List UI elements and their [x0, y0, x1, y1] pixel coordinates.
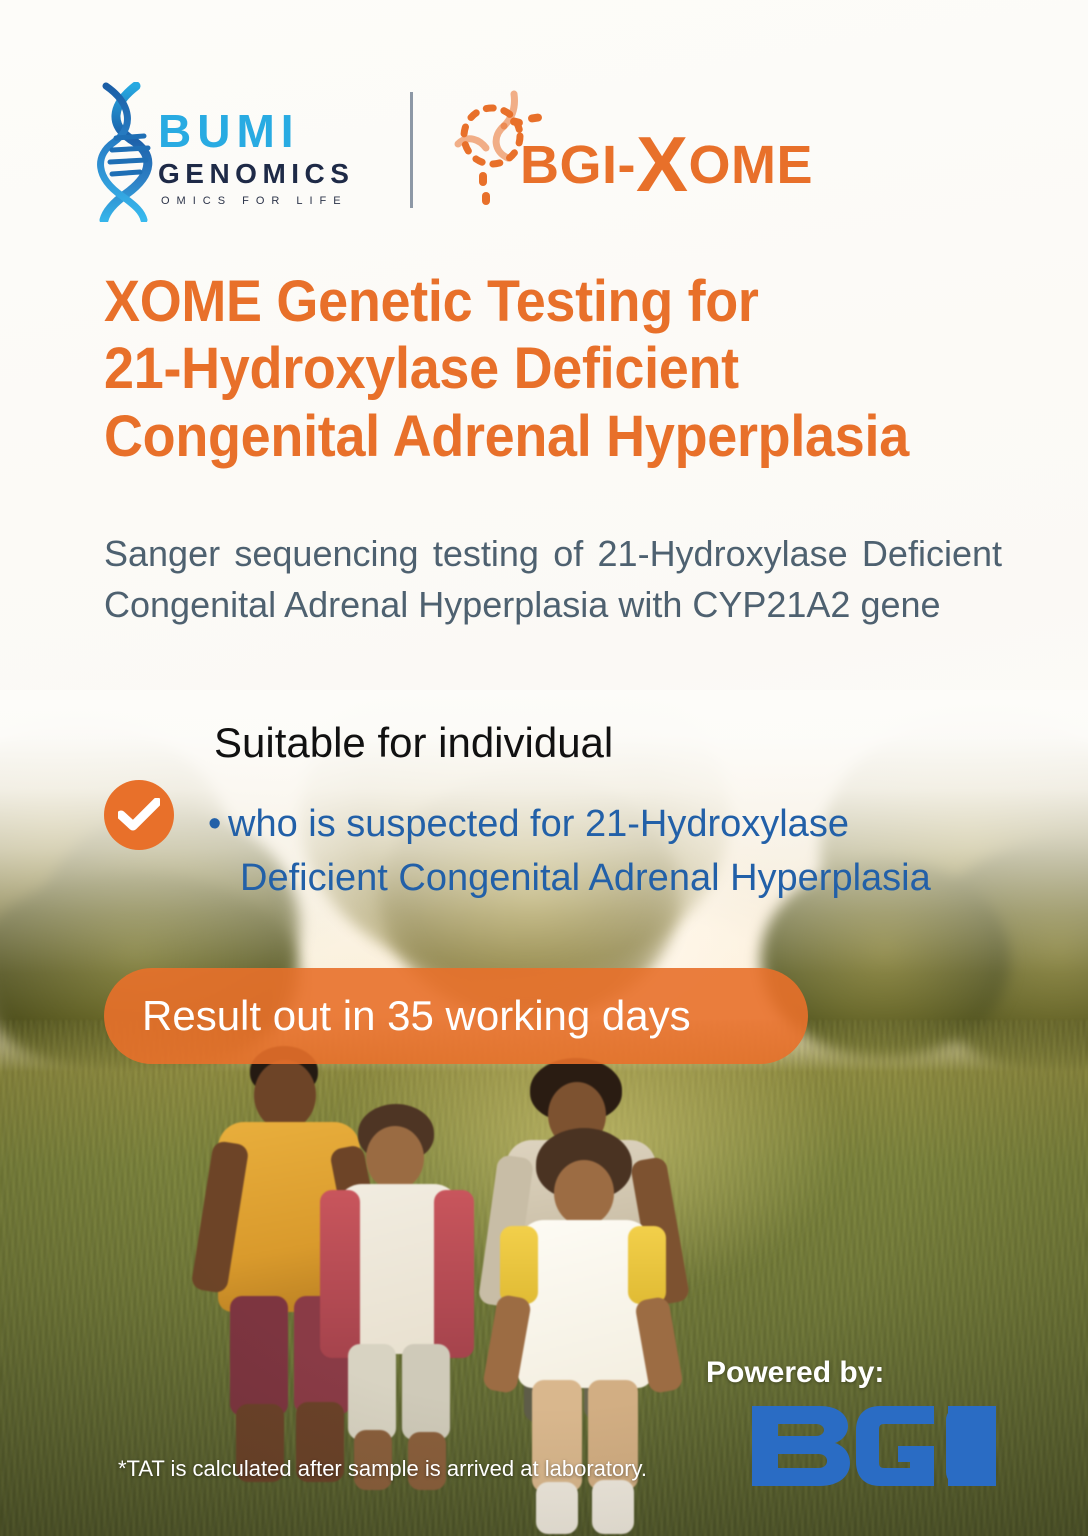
- page-title: XOME Genetic Testing for 21-Hydroxylase …: [104, 268, 1064, 470]
- bgi-xome-logo: BGI-XOME: [452, 88, 752, 218]
- bgi-logo: [748, 1398, 1000, 1492]
- bumi-tagline-text: OMICS FOR LIFE: [161, 196, 398, 207]
- person-boy: [318, 1104, 488, 1504]
- headline-line-2: 21-Hydroxylase Deficient: [104, 335, 997, 402]
- logo-divider: [410, 92, 413, 208]
- subtitle-text: Sanger sequencing testing of 21-Hydroxyl…: [104, 533, 1002, 625]
- bgi-xome-wordmark: BGI-XOME: [520, 138, 813, 192]
- dna-helix-icon: [92, 82, 166, 222]
- headline-line-1: XOME Genetic Testing for: [104, 268, 997, 335]
- check-circle-icon: [104, 780, 174, 850]
- powered-by-label: Powered by:: [706, 1358, 884, 1388]
- bgi-xome-x-letter: X: [636, 120, 689, 208]
- footnote-text: *TAT is calculated after sample is arriv…: [118, 1458, 647, 1480]
- poster-root: BUMI GENOMICS OMICS FOR LIFE: [0, 0, 1088, 1536]
- suitable-heading: Suitable for individual: [214, 720, 613, 766]
- bullet-line-1: who is suspected for 21-Hydroxylase: [228, 803, 849, 845]
- headline-line-3: Congenital Adrenal Hyperplasia: [104, 403, 997, 470]
- bumi-genomics-logo: BUMI GENOMICS OMICS FOR LIFE: [92, 80, 392, 220]
- header: BUMI GENOMICS OMICS FOR LIFE: [0, 0, 1088, 240]
- suitable-bullet-list: •who is suspected for 21-Hydroxylase Def…: [208, 798, 1088, 906]
- bumi-wordmark: BUMI GENOMICS OMICS FOR LIFE: [158, 108, 398, 207]
- bumi-subbrand-text: GENOMICS: [158, 160, 398, 188]
- bgi-xome-prefix: BGI-: [520, 135, 636, 195]
- bullet-line-2: Deficient Congenital Adrenal Hyperplasia: [208, 852, 1088, 906]
- turnaround-badge: Result out in 35 working days: [104, 968, 808, 1064]
- turnaround-label: Result out in 35 working days: [104, 995, 691, 1037]
- list-item: •who is suspected for 21-Hydroxylase Def…: [208, 798, 1088, 906]
- bumi-brand-text: BUMI: [158, 108, 398, 154]
- bullet-dot-icon: •: [208, 798, 228, 852]
- bgi-xome-suffix: OME: [689, 135, 814, 195]
- check-mark-icon: [118, 798, 160, 832]
- page-subtitle: Sanger sequencing testing of 21-Hydroxyl…: [104, 528, 1002, 630]
